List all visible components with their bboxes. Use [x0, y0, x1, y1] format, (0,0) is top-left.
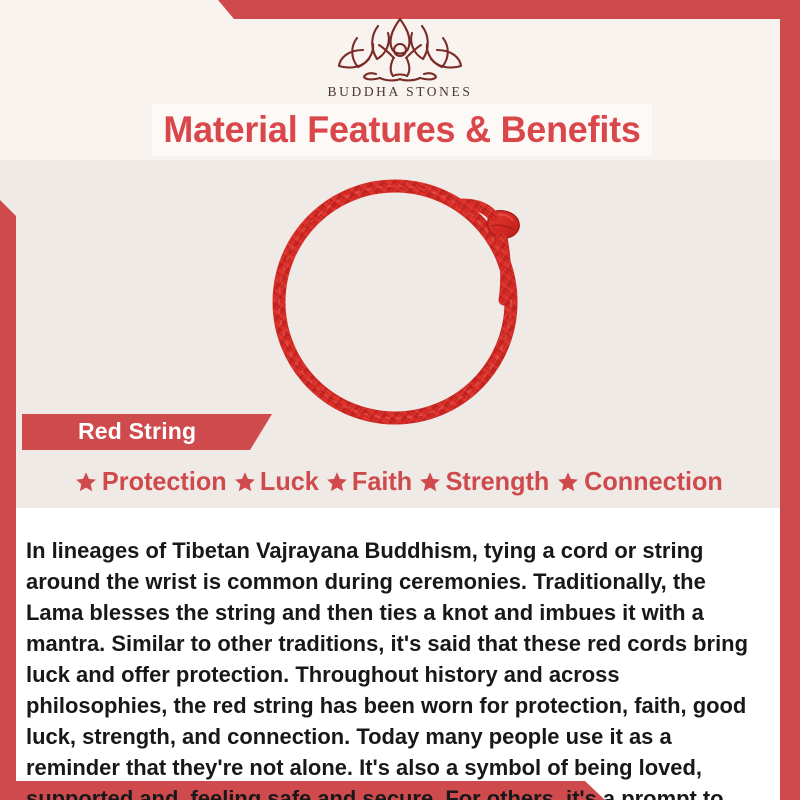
brand-wordmark: BUDDHA STONES — [0, 84, 800, 100]
feature-item-strength: Strength — [419, 466, 551, 497]
feature-item-connection: Connection — [557, 466, 725, 497]
star-icon — [234, 471, 256, 493]
feature-label: Strength — [446, 466, 550, 497]
infographic-canvas: BUDDHA STONES Material Features & Benefi… — [0, 0, 800, 800]
product-name-label: Red String — [78, 418, 196, 445]
star-icon — [75, 471, 97, 493]
feature-item-protection: Protection — [75, 466, 229, 497]
star-icon — [326, 471, 348, 493]
product-description: In lineages of Tibetan Vajrayana Buddhis… — [26, 535, 755, 800]
star-icon — [557, 471, 579, 493]
page-title: Material Features & Benefits — [163, 109, 640, 151]
feature-label: Connection — [584, 466, 723, 497]
page-title-band: Material Features & Benefits — [152, 104, 652, 156]
feature-label: Faith — [352, 466, 412, 497]
feature-label: Luck — [260, 466, 319, 497]
star-icon — [419, 471, 441, 493]
product-photo-red-string-bracelet — [230, 168, 570, 430]
lotus-meditation-icon — [330, 14, 470, 82]
feature-item-faith: Faith — [326, 466, 413, 497]
feature-item-luck: Luck — [234, 466, 320, 497]
brand-logo: BUDDHA STONES — [0, 14, 800, 100]
feature-label: Protection — [102, 466, 227, 497]
feature-list: Protection Luck Faith Strength Connectio — [0, 466, 800, 497]
